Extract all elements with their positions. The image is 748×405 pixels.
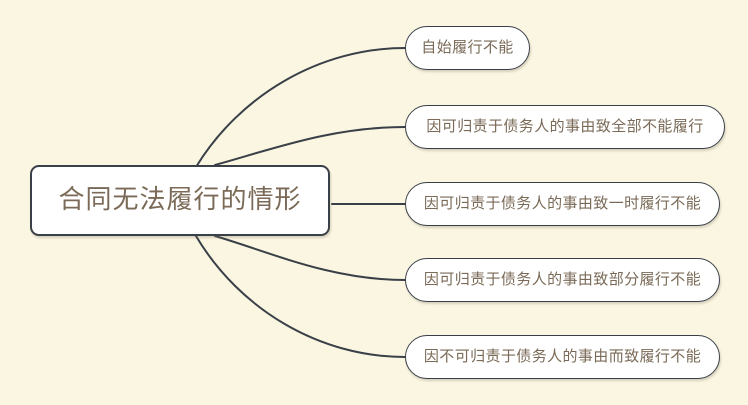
child-node-2[interactable]: 因可归责于债务人的事由致全部不能履行 (405, 105, 725, 149)
child-node-5[interactable]: 因不可归责于债务人的事由而致履行不能 (405, 335, 720, 379)
child-node-3[interactable]: 因可归责于债务人的事由致一时履行不能 (405, 182, 720, 226)
child-node-3-label: 因可归责于债务人的事由致一时履行不能 (424, 196, 701, 212)
child-node-4-label: 因可归责于债务人的事由致部分履行不能 (424, 272, 701, 288)
connector-to-child-4 (215, 236, 405, 280)
root-node-label: 合同无法履行的情形 (58, 187, 301, 215)
child-node-1[interactable]: 自始履行不能 (405, 26, 530, 70)
connector-to-child-2 (215, 127, 405, 165)
mindmap-canvas: 合同无法履行的情形 自始履行不能 因可归责于债务人的事由致全部不能履行 因可归责… (0, 0, 748, 405)
root-node[interactable]: 合同无法履行的情形 (30, 165, 330, 236)
child-node-1-label: 自始履行不能 (421, 40, 513, 56)
connector-to-child-1 (196, 48, 405, 167)
child-node-2-label: 因可归责于债务人的事由致全部不能履行 (426, 119, 703, 135)
child-node-5-label: 因不可归责于债务人的事由而致履行不能 (424, 349, 701, 365)
child-node-4[interactable]: 因可归责于债务人的事由致部分履行不能 (405, 258, 720, 302)
connector-to-child-5 (196, 236, 405, 357)
